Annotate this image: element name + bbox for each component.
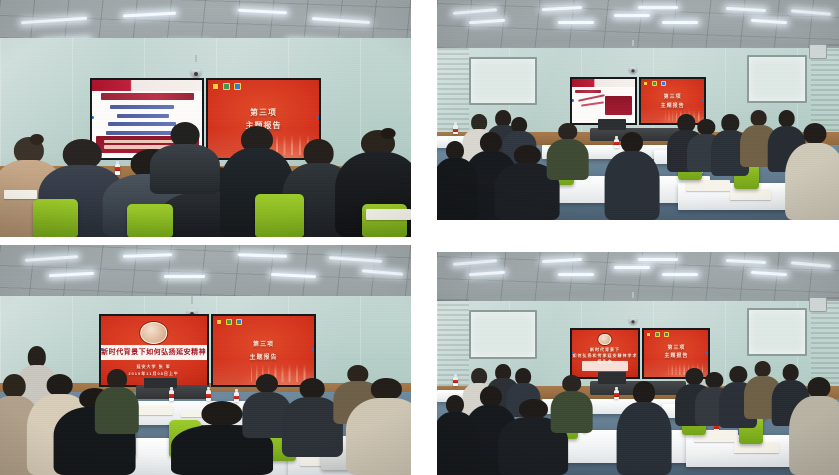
conference-photo-top-left[interactable]: 第三项 主题报告 [0,0,411,237]
emblem-icon [664,332,669,337]
emblem-icon [212,83,219,90]
water-bottle [169,390,174,401]
party-emblems [646,332,669,337]
ceiling-light [558,21,594,24]
emblem-icon [236,319,242,325]
party-emblems [212,83,241,90]
ceiling-light [558,273,594,276]
ceiling-light [662,273,698,276]
photo-collage-sheet: 第三项 主题报告 [0,0,839,475]
water-bottle [115,164,120,175]
slide-line-2: 主题报告 [644,352,708,359]
camera-stem [632,40,634,46]
ceiling-light [662,21,698,24]
notebook [686,180,730,191]
conference-photo-bottom-left[interactable]: 新时代背景下如何弘扬延安精神 延安大学 张 军 2019年11月08日上午 [0,245,411,475]
ceiling-light [164,275,205,278]
water-bottle [614,390,619,399]
conference-photo-bottom-right[interactable]: 新时代背景下 如何弘扬和传承延安精神学术报告会 [437,252,839,475]
whiteboard [747,308,807,357]
institution-seal [598,334,611,345]
party-emblems [216,319,242,325]
audience-person [437,141,473,220]
audience-person [288,378,337,456]
slide-diagram [572,79,635,123]
emblem-icon [655,332,660,337]
audience-person [550,123,586,180]
audience-person [156,119,214,195]
emblem-icon [652,81,657,86]
chair [255,194,304,237]
whiteboard [469,57,537,105]
display-left[interactable]: 新时代背景下 如何弘扬和传承延安精神学术报告会 [570,328,641,379]
notebook [4,190,37,199]
slide-line-1: 第三项 [208,107,318,118]
audience-person [437,395,473,475]
camera-stem [191,296,193,304]
notebook [730,189,770,200]
water-bottle [453,125,458,134]
wall-speaker [809,44,827,59]
slide-title-bar [101,93,193,100]
water-bottle [206,390,211,401]
emblem-icon [646,332,651,337]
ceiling-light [614,14,650,17]
slide-line-1: 第三项 [213,339,315,348]
whiteboard [747,55,807,103]
audience-person [610,132,654,220]
audience-person [622,381,666,475]
emblem-icon [661,81,666,86]
institution-seal [140,322,168,344]
ceiling-light [638,258,678,261]
emblem-icon [223,83,230,90]
slide-title-text: 新时代背景下 [572,347,639,353]
audience-person [99,369,136,433]
display-left[interactable] [570,77,637,125]
emblem-icon [643,81,648,86]
notebook [366,209,411,221]
camera-stem [195,55,197,62]
chair [127,204,172,237]
camera-stem [632,292,634,298]
slide-title-text: 新时代背景下如何弘扬延安精神 [101,347,207,357]
slide-line-1: 第三项 [644,344,708,351]
emblem-icon [234,83,241,90]
water-bottle [453,377,458,386]
laptop [598,119,626,130]
audience-person [554,375,590,433]
audience-person [353,378,411,475]
whiteboard [469,310,537,359]
wall-speaker [809,297,827,312]
emblem-icon [216,319,222,325]
slide-line-2: 主题报告 [641,102,704,109]
audience-person [791,123,839,220]
audience-person [795,377,839,475]
ceiling-light [614,266,650,269]
conference-photo-top-right[interactable]: 第三项 主题报告 [437,0,839,220]
slide-title: 新时代背景下 如何弘扬和传承延安精神学术报告会 [572,330,639,377]
party-emblems [643,81,666,86]
chair [33,199,78,237]
slide-line-2: 主题报告 [213,352,315,361]
slide-line-1: 第三项 [641,93,704,100]
ceiling-light [638,6,678,9]
emblem-icon [226,319,232,325]
